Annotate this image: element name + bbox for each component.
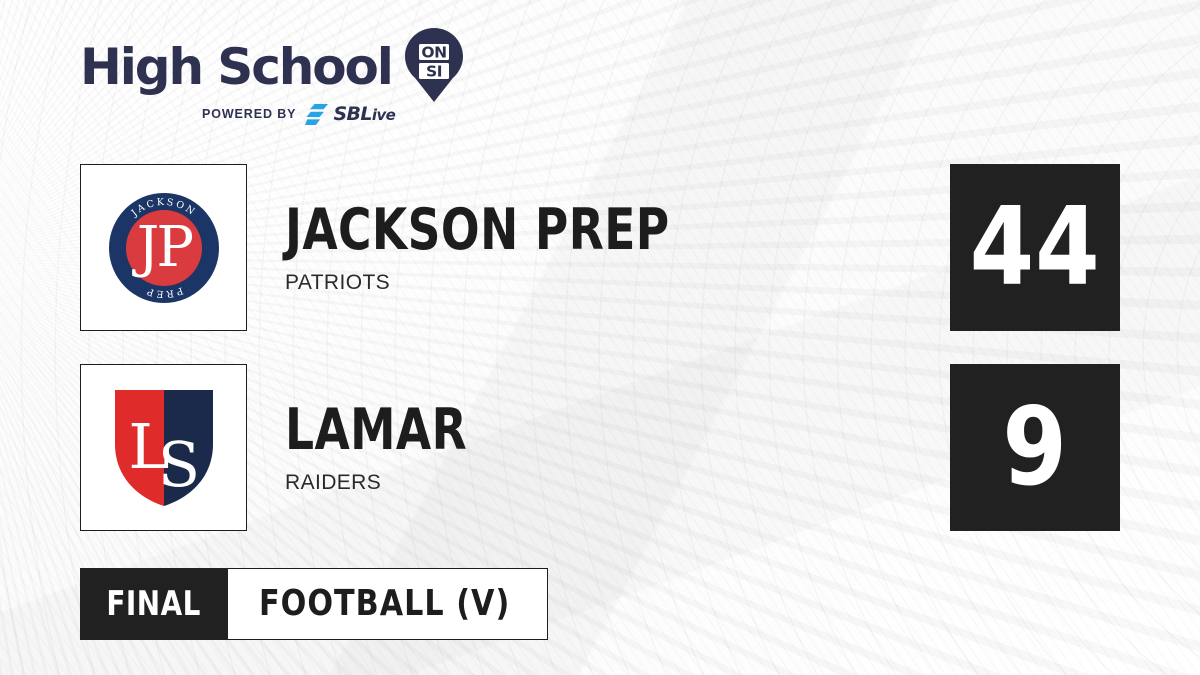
on-si-pin-icon: ON SI xyxy=(404,28,464,102)
team-logo-card-jackson-prep: JACKSON PREP JP xyxy=(80,164,247,331)
brand-lockup: High School ON SI xyxy=(80,36,510,98)
team-score-box: 44 xyxy=(950,164,1120,331)
sblive-wordmark-main: SBL xyxy=(333,103,371,125)
svg-text:ON: ON xyxy=(421,43,446,61)
status-badge-label: FINAL xyxy=(107,587,202,621)
svg-text:SI: SI xyxy=(426,62,442,80)
team-score-box: 9 xyxy=(950,364,1120,531)
team-name: LAMAR xyxy=(285,401,467,459)
team-mascot: RAIDERS xyxy=(285,471,513,495)
sblive-wordmark-suffix: ive xyxy=(372,106,395,124)
team-logo-card-lamar: L S xyxy=(80,364,247,531)
team-score: 44 xyxy=(970,194,1101,302)
status-badge: FINAL xyxy=(80,568,228,640)
sblive-logo: SBLive xyxy=(305,103,395,125)
sport-label: FOOTBALL (V) xyxy=(259,586,510,622)
team-row: L S LAMAR RAIDERS 9 xyxy=(80,364,1120,534)
brand-wordmark: High School xyxy=(80,42,392,92)
team-mascot: PATRIOTS xyxy=(285,271,766,295)
brand-powered-by-row: POWERED BY SBLive xyxy=(80,104,510,124)
lamar-shield-icon: L S xyxy=(109,386,219,510)
svg-text:JP: JP xyxy=(131,215,191,280)
team-info: JACKSON PREP PATRIOTS xyxy=(285,164,766,331)
sblive-mark-icon xyxy=(305,104,331,125)
sblive-wordmark: SBLive xyxy=(333,103,395,125)
sport-label-box: FOOTBALL (V) xyxy=(228,568,548,640)
brand-header: High School ON SI POWERED BY xyxy=(80,36,510,136)
team-name: JACKSON PREP xyxy=(285,201,670,259)
jackson-prep-crest-icon: JACKSON PREP JP xyxy=(104,188,224,308)
game-status-bar: FINAL FOOTBALL (V) xyxy=(80,568,548,640)
team-row: JACKSON PREP JP JACKSON PREP PATRIOTS 44 xyxy=(80,164,1120,334)
team-score: 9 xyxy=(1002,394,1067,502)
team-info: LAMAR RAIDERS xyxy=(285,364,513,531)
powered-by-label: POWERED BY xyxy=(202,107,296,121)
scoreboard-graphic: High School ON SI POWERED BY xyxy=(0,0,1200,675)
svg-text:S: S xyxy=(157,428,199,501)
